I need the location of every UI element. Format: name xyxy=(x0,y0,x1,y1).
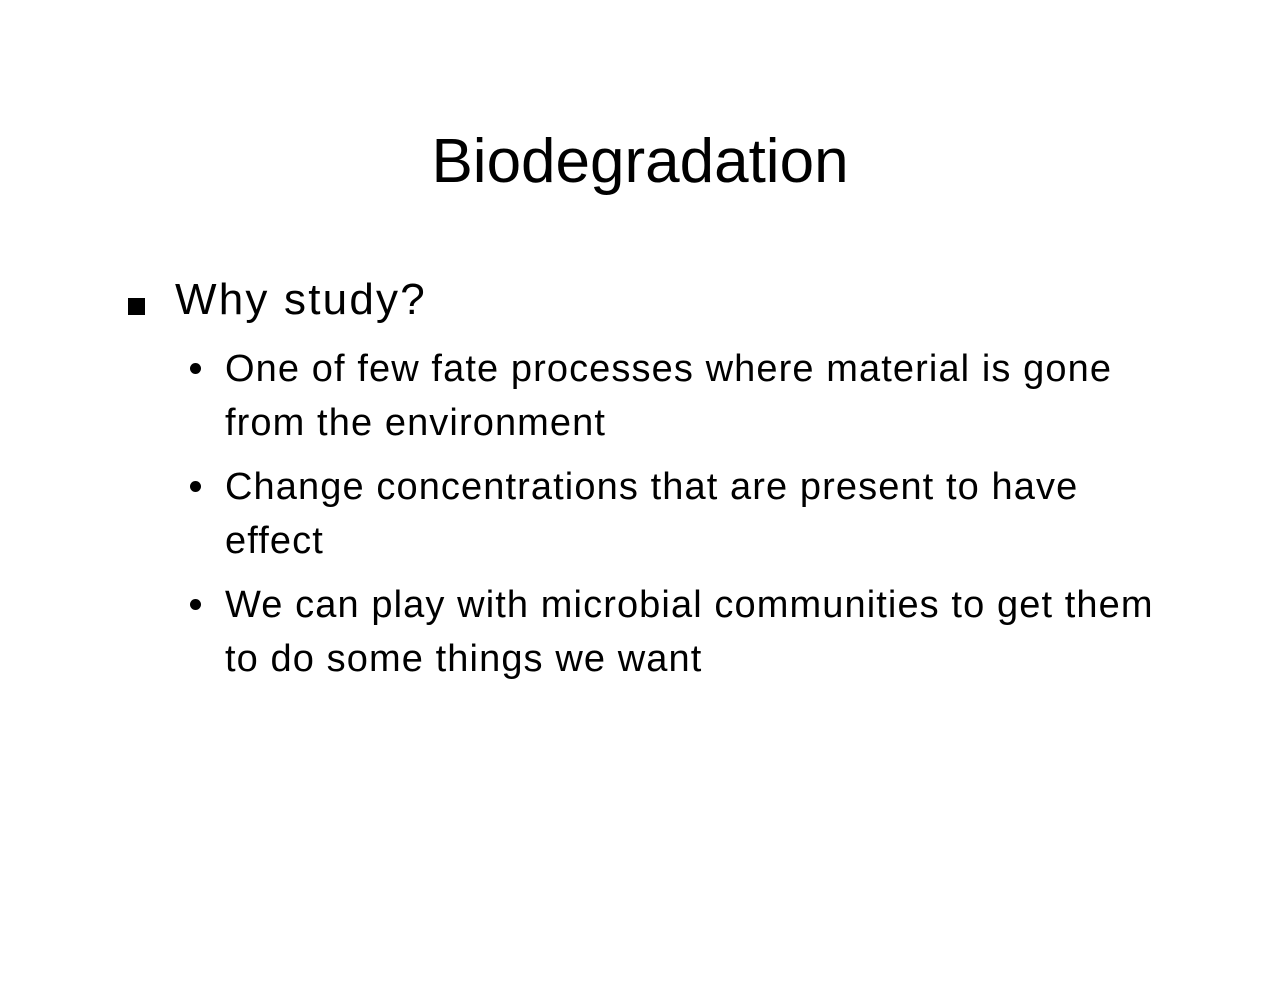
round-bullet-icon xyxy=(190,481,201,492)
bullet-level2-label: One of few fate processes where material… xyxy=(225,342,1185,450)
slide-body: Why study? One of few fate processes whe… xyxy=(0,272,1280,686)
square-bullet-icon xyxy=(128,298,145,315)
bullet-level1-label: Why study? xyxy=(175,272,1280,328)
bullet-level2-label: Change concentrations that are present t… xyxy=(225,460,1185,568)
bullet-level2-item: We can play with microbial communities t… xyxy=(0,578,1280,686)
bullet-level2-list: One of few fate processes where material… xyxy=(0,342,1280,686)
bullet-level1: Why study? xyxy=(0,272,1280,328)
bullet-level2-label: We can play with microbial communities t… xyxy=(225,578,1185,686)
presentation-slide: Biodegradation Why study? One of few fat… xyxy=(0,0,1280,989)
bullet-level2-item: Change concentrations that are present t… xyxy=(0,460,1280,568)
round-bullet-icon xyxy=(190,363,201,374)
bullet-level2-item: One of few fate processes where material… xyxy=(0,342,1280,450)
slide-title: Biodegradation xyxy=(0,126,1280,198)
round-bullet-icon xyxy=(190,599,201,610)
